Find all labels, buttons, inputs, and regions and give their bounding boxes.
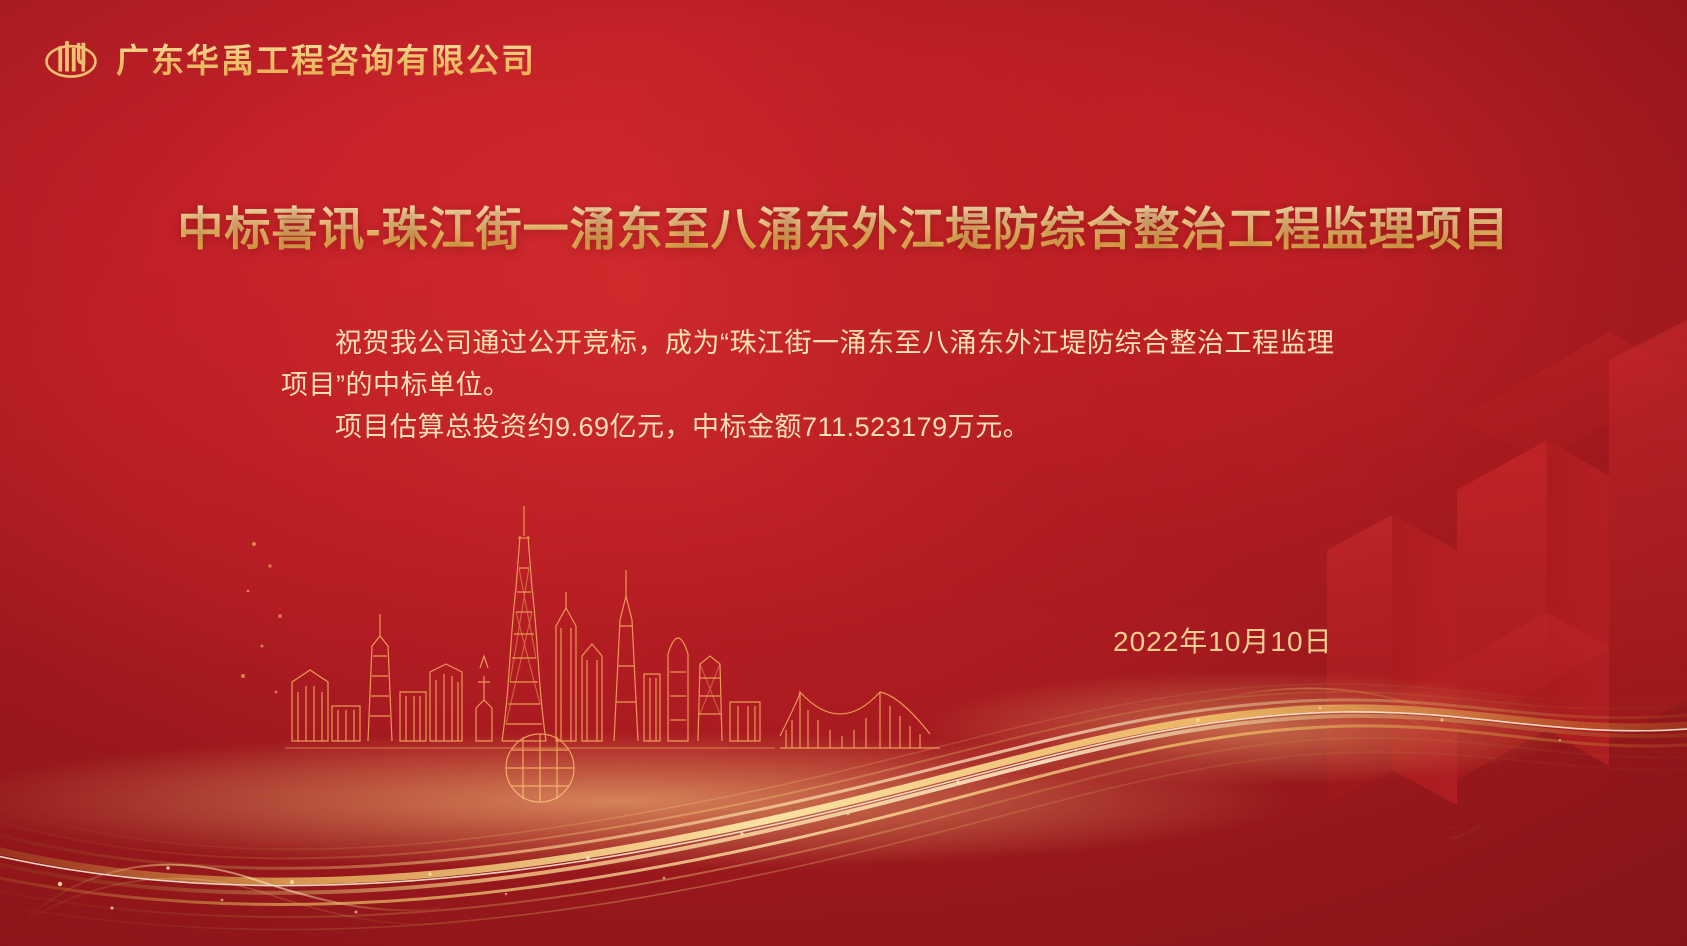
body-paragraph-1: 祝贺我公司通过公开竞标，成为“珠江街一涌东至八涌东外江堤防综合整治工程监理项目”… <box>281 322 1339 406</box>
publish-date: 2022年10月10日 <box>1113 620 1333 660</box>
page-title: 中标喜讯-珠江街一涌东至八涌东外江堤防综合整治工程监理项目 <box>0 193 1687 259</box>
announcement-body: 祝贺我公司通过公开竞标，成为“珠江街一涌东至八涌东外江堤防综合整治工程监理项目”… <box>281 322 1339 448</box>
company-name: 广东华禹工程咨询有限公司 <box>116 34 536 82</box>
title-main: 珠江街一涌东至八涌东外江堤防综合整治工程监理项目 <box>382 203 1510 255</box>
title-prefix: 中标喜讯 <box>177 203 365 255</box>
body-paragraph-1-text: 祝贺我公司通过公开竞标，成为“珠江街一涌东至八涌东外江堤防综合整治工程监理项目”… <box>281 328 1335 400</box>
brand-header: 广东华禹工程咨询有限公司 <box>44 34 536 82</box>
company-logo-icon <box>44 36 98 80</box>
city-skyline-illustration-icon <box>240 496 940 826</box>
golden-ribbon-wave-icon <box>0 616 1687 946</box>
body-paragraph-2: 项目估算总投资约9.69亿元，中标金额711.523179万元。 <box>281 406 1339 448</box>
body-paragraph-2-text: 项目估算总投资约9.69亿元，中标金额711.523179万元。 <box>335 412 1030 442</box>
background-vignette <box>0 0 1687 946</box>
poster-canvas: 广东华禹工程咨询有限公司 中标喜讯-珠江街一涌东至八涌东外江堤防综合整治工程监理… <box>0 0 1687 946</box>
title-separator: - <box>365 203 381 255</box>
